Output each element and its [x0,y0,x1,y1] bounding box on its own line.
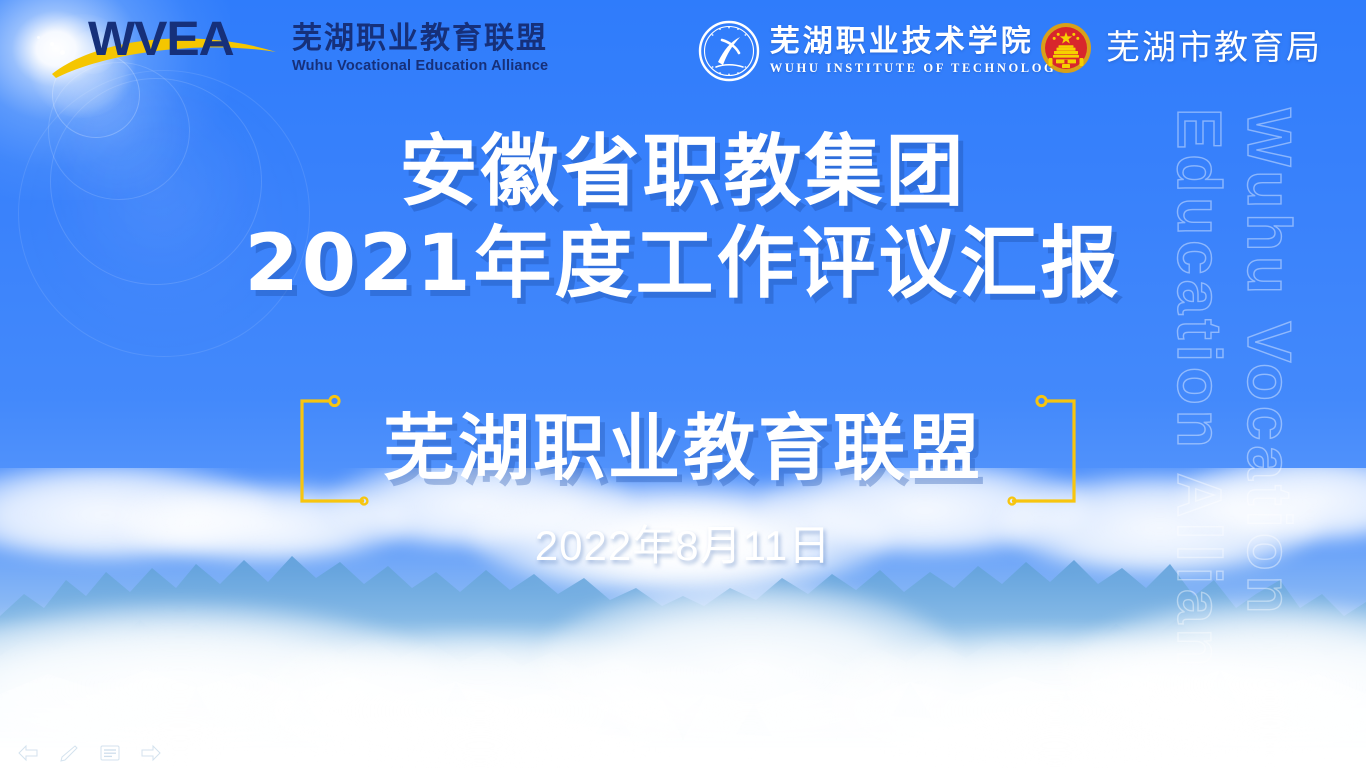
watermark-line-education-alliance: Education Allian [1176,108,1234,671]
national-emblem-icon [1036,18,1096,78]
cloud [760,468,1090,552]
pen-icon [59,744,79,762]
next-slide-button[interactable] [139,742,163,764]
cloud [540,584,960,744]
cloud [0,604,440,754]
title-line-1: 安徽省职教集团 [0,126,1366,218]
subtitle-organization: 芜湖职业教育联盟 [0,410,1366,486]
wvea-logo[interactable]: WVEA 芜湖职业教育联盟 Wuhu Vocational Education … [88,18,548,80]
cloud [1060,602,1366,752]
vertical-watermark: Wuhu Vocation Education Allian [1176,0,1366,768]
wuhu-institute-logo[interactable]: 芜湖职业技术学院 WUHU INSTITUTE OF TECHNOLOGY [698,20,1068,82]
wvea-acronym: WVEA [88,16,234,64]
cloud [470,482,890,592]
cloud [0,468,270,558]
cloud [330,468,630,546]
circular-seal-icon [698,20,760,82]
back-arrow-icon [17,744,39,762]
lens-flare-ring [18,70,310,357]
wuhu-education-bureau-logo[interactable]: 芜湖市教育局 [1036,18,1322,78]
bureau-chinese-name: 芜湖市教育局 [1106,31,1322,65]
wvea-english-name: Wuhu Vocational Education Alliance [292,59,548,74]
lens-flare-dot [37,36,40,39]
mountain-cloud-scene [0,468,1366,768]
cloud [120,484,410,560]
institute-chinese-name: 芜湖职业技术学院 [770,27,1068,57]
slideshow-navbar [16,742,163,764]
pen-annotation-button[interactable] [57,742,81,764]
cloud [820,634,1290,768]
forward-arrow-icon [140,744,162,762]
bracket-left-decoration [296,392,370,510]
cloud [560,506,810,576]
snow-mountains [0,468,1366,768]
menu-button[interactable] [98,742,122,764]
wvea-name-block: 芜湖职业教育联盟 Wuhu Vocational Education Allia… [292,24,548,74]
bracket-right-decoration [1006,392,1080,510]
cloud [1000,474,1320,572]
menu-icon [99,744,121,762]
presentation-slide: Wuhu Vocation Education Allian WVEA 芜湖职业… [0,0,1366,768]
cloud [240,634,720,768]
slide-title: 安徽省职教集团 2021年度工作评议汇报 [0,126,1366,310]
subtitle-date: 2022年8月11日 [0,512,1366,573]
institute-english-name: WUHU INSTITUTE OF TECHNOLOGY [770,62,1068,75]
lens-flare-ring [50,78,262,285]
cloud [1180,468,1366,540]
previous-slide-button[interactable] [16,742,40,764]
watermark-line-wuhu-vocation: Wuhu Vocation [1233,108,1304,618]
cloud-sea [0,618,1366,768]
wvea-wordmark: WVEA [88,18,248,80]
wvea-chinese-name: 芜湖职业教育联盟 [292,24,548,54]
institute-name-block: 芜湖职业技术学院 WUHU INSTITUTE OF TECHNOLOGY [770,27,1068,75]
header-logo-bar: WVEA 芜湖职业教育联盟 Wuhu Vocational Education … [0,0,1366,100]
title-line-2: 2021年度工作评议汇报 [0,218,1366,310]
lens-flare-ring [48,62,190,200]
